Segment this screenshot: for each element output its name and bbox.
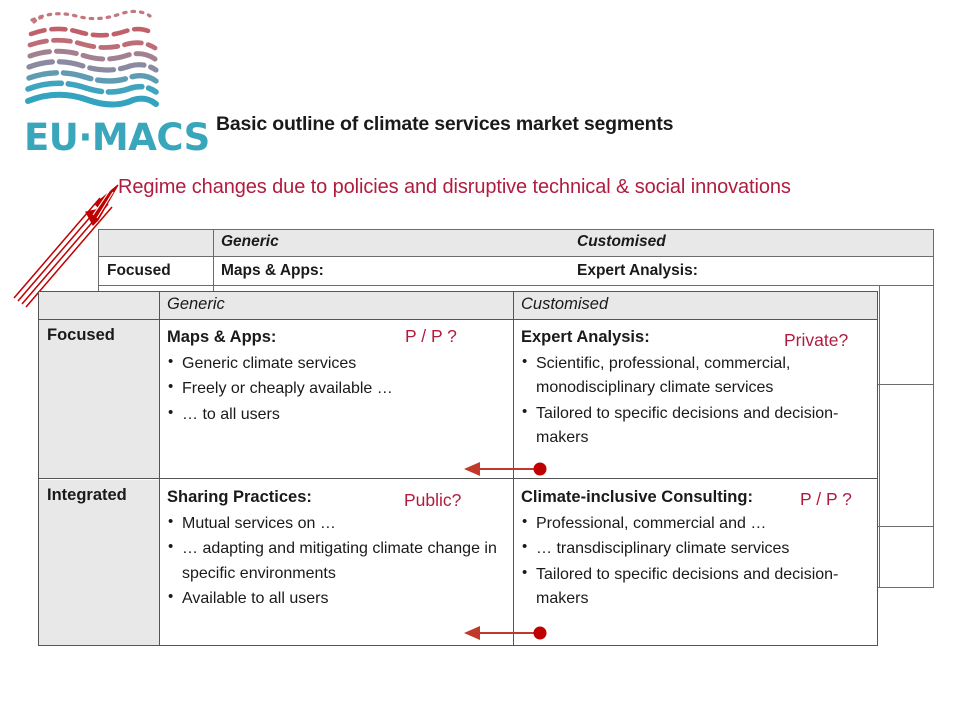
row-header-focused: Focused [47, 326, 115, 345]
row-header-integrated: Integrated [47, 486, 127, 505]
col-header-generic: Generic [167, 295, 225, 314]
tag-public-private-integrated-customised: P / P ? [800, 489, 852, 510]
page-title: Basic outline of climate services market… [216, 113, 673, 136]
tag-private: Private? [784, 330, 848, 351]
list-item: … adapting and mitigating climate change… [167, 537, 507, 586]
list-item: Freely or cheaply available … [167, 377, 497, 401]
tag-public: Public? [404, 490, 461, 511]
list-item: Available to all users [167, 587, 507, 611]
regime-changes-note: Regime changes due to policies and disru… [118, 176, 791, 199]
cell-bullets-maps-and-apps: Generic climate services Freely or cheap… [167, 352, 497, 427]
list-item: Mutual services on … [167, 512, 507, 536]
ghost-cell-maps-apps: Maps & Apps: [221, 262, 324, 280]
list-item: Generic climate services [167, 352, 497, 376]
cell-bullets-expert-analysis: Scientific, professional, commercial, mo… [521, 352, 871, 450]
logo-waves-icon [18, 8, 183, 118]
tag-public-private-focused-generic: P / P ? [405, 326, 457, 347]
table-column-divider-1 [159, 292, 160, 645]
logo-wordmark: EU·MACS [24, 116, 210, 159]
list-item: Tailored to specific decisions and decis… [521, 563, 873, 612]
list-item: … transdisciplinary climate services [521, 537, 873, 561]
table-column-divider-2 [513, 292, 514, 645]
list-item: … to all users [167, 403, 497, 427]
market-segments-table: Generic Customised Focused Integrated Ma… [38, 291, 878, 646]
table-row-divider [39, 478, 877, 479]
eu-macs-logo: EU·MACS [18, 8, 183, 158]
cell-bullets-climate-inclusive-consulting: Professional, commercial and … … transdi… [521, 512, 873, 611]
table-header-row [39, 292, 877, 320]
cell-bullets-sharing-practices: Mutual services on … … adapting and miti… [167, 512, 507, 611]
background-table-header: Generic Customised Focused Maps & Apps: … [98, 229, 934, 286]
col-header-customised: Customised [521, 295, 608, 314]
ghost-col-header-customised: Customised [577, 233, 666, 251]
list-item: Scientific, professional, commercial, mo… [521, 352, 871, 401]
list-item: Tailored to specific decisions and decis… [521, 402, 871, 451]
list-item: Professional, commercial and … [521, 512, 873, 536]
ghost-row-label-focused: Focused [107, 262, 171, 280]
ghost-cell-expert-analysis: Expert Analysis: [577, 262, 698, 280]
ghost-col-header-generic: Generic [221, 233, 279, 251]
